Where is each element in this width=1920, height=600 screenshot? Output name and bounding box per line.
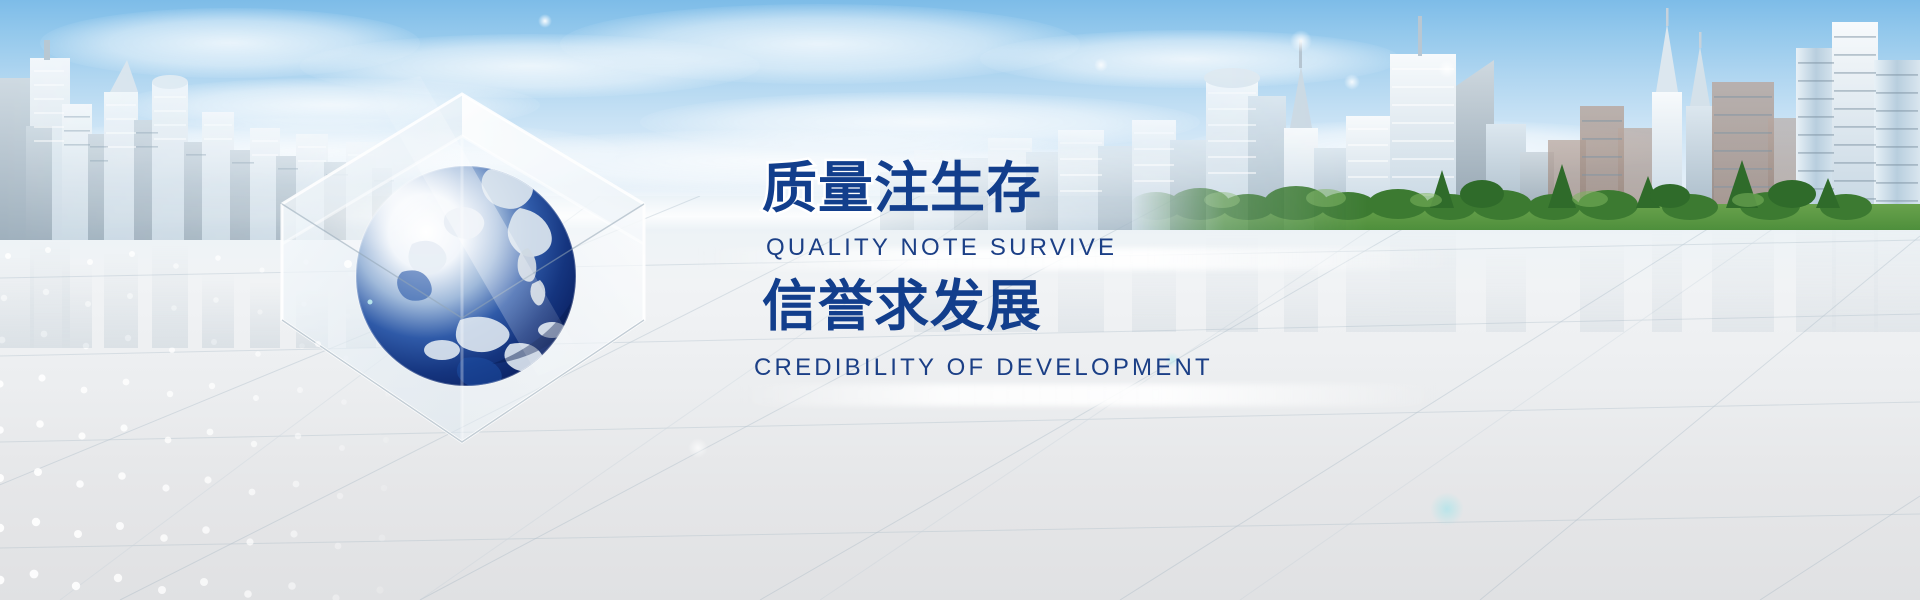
headline-sheen-2 <box>740 384 1440 406</box>
headline-quality: 质量注生存 <box>762 160 1117 218</box>
headline-quality-lead: 质量 <box>762 157 874 219</box>
slogan-credibility: 信誉求发展 CREDIBILITY OF DEVELOPMENT <box>762 278 1213 382</box>
headline-quality-tail: 注生存 <box>874 157 1042 219</box>
headline-credibility-tail: 求发展 <box>874 275 1042 337</box>
hero-banner: 质量注生存 QUALITY NOTE SURVIVE 信誉求发展 CREDIBI… <box>0 0 1920 600</box>
subline-credibility: CREDIBILITY OF DEVELOPMENT <box>754 354 1213 382</box>
trees-and-lawn <box>1130 150 1920 230</box>
glass-prism-globe <box>252 58 672 478</box>
headline-credibility: 信誉求发展 <box>762 278 1213 336</box>
slogan-quality: 质量注生存 QUALITY NOTE SURVIVE <box>762 160 1117 262</box>
subline-quality: QUALITY NOTE SURVIVE <box>766 234 1117 262</box>
headline-credibility-lead: 信誉 <box>762 275 874 337</box>
